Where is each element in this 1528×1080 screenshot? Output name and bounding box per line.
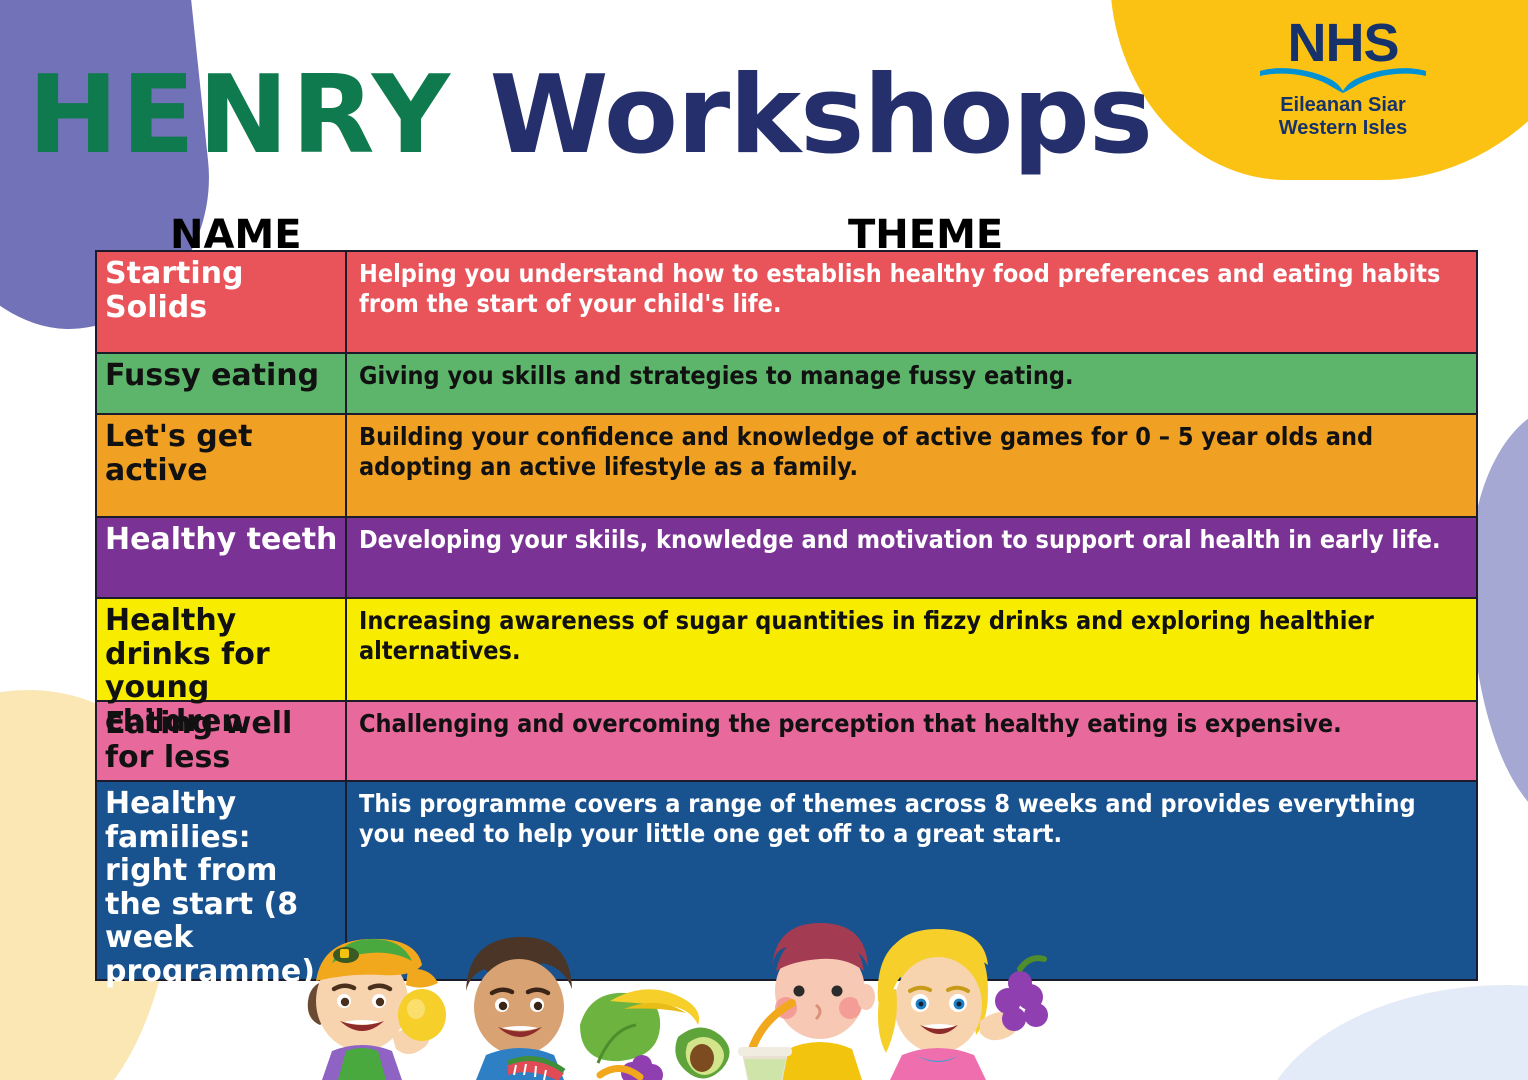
table-row: Starting SolidsHelping you understand ho… xyxy=(97,252,1476,354)
nhs-logo: NHS Eileanan Siar Western Isles xyxy=(1253,18,1433,139)
title-henry: HENRY xyxy=(28,53,453,178)
boy-drinking-smoothie xyxy=(738,923,875,1080)
workshop-name-cell: Let's get active xyxy=(97,415,347,516)
workshop-name-cell: Healthy drinks for young children xyxy=(97,599,347,700)
nhs-swoosh-icon xyxy=(1253,67,1433,93)
table-row: Eating well for lessChallenging and over… xyxy=(97,702,1476,782)
children-illustration xyxy=(280,905,1110,1080)
table-row: Healthy drinks for young childrenIncreas… xyxy=(97,599,1476,702)
nhs-trust-name: Eileanan Siar Western Isles xyxy=(1253,94,1433,139)
boy-with-cap-holding-lemon xyxy=(308,939,446,1080)
nhs-trust-line-2: Western Isles xyxy=(1253,117,1433,139)
title-workshops: Workshops xyxy=(453,53,1152,178)
workshop-theme-cell: Increasing awareness of sugar quantities… xyxy=(347,599,1476,700)
decorative-blob-pale-blue xyxy=(1255,985,1528,1080)
workshop-theme-cell: Helping you understand how to establish … xyxy=(347,252,1476,352)
workshop-name-cell: Fussy eating xyxy=(97,354,347,413)
workshop-name-cell: Starting Solids xyxy=(97,252,347,352)
table-row: Healthy teethDeveloping your skiils, kno… xyxy=(97,518,1476,599)
workshops-table: Starting SolidsHelping you understand ho… xyxy=(95,250,1478,981)
workshop-name-cell: Eating well for less xyxy=(97,702,347,780)
girl-holding-grapes xyxy=(878,929,1048,1080)
workshop-theme-cell: Challenging and overcoming the perceptio… xyxy=(347,702,1476,780)
poster-canvas: NHS Eileanan Siar Western Isles HENRY Wo… xyxy=(0,0,1528,1080)
table-row: Let's get activeBuilding your confidence… xyxy=(97,415,1476,518)
nhs-trust-line-1: Eileanan Siar xyxy=(1253,94,1433,116)
table-row: Fussy eatingGiving you skills and strate… xyxy=(97,354,1476,415)
workshop-theme-cell: Developing your skiils, knowledge and mo… xyxy=(347,518,1476,597)
workshop-name-cell: Healthy teeth xyxy=(97,518,347,597)
workshop-theme-cell: Building your confidence and knowledge o… xyxy=(347,415,1476,516)
produce-group xyxy=(580,989,730,1080)
boy-with-watermelon xyxy=(466,937,572,1080)
workshop-theme-cell: Giving you skills and strategies to mana… xyxy=(347,354,1476,413)
decorative-blob-periwinkle xyxy=(1470,405,1528,825)
page-title: HENRY Workshops xyxy=(0,62,1180,170)
nhs-wordmark: NHS xyxy=(1253,18,1433,69)
